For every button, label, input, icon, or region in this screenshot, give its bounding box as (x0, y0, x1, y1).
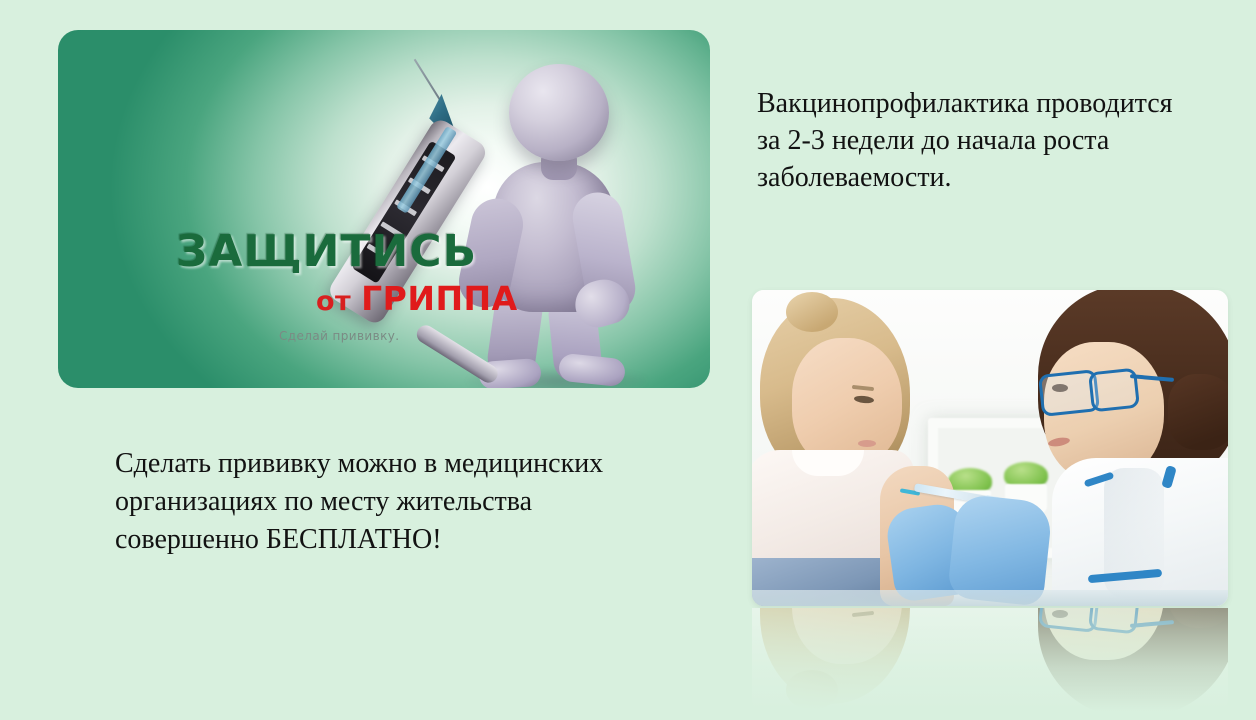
nurse-eyeglasses-lens-left (1038, 608, 1100, 633)
child-hair (760, 608, 910, 704)
poster-image: ЗАЩИТИСЬ от ГРИППА Сделай прививку. (58, 30, 710, 388)
nurse-face (1044, 608, 1164, 660)
photo-reflection-mirror (752, 608, 1228, 712)
nurse-eye (1052, 610, 1068, 618)
poster-tagline: Сделай прививку. (279, 329, 399, 343)
syringe-needle (414, 59, 441, 101)
photo-reflection (752, 608, 1228, 712)
text-block-free-vaccination: Сделать прививку можно в медицинских орг… (115, 445, 655, 559)
photo-background (752, 608, 1228, 712)
photo-container[interactable] (752, 290, 1228, 606)
nurse-braid (1168, 374, 1228, 450)
child-lips (858, 440, 876, 447)
photo-nurse-vaccinating-girl (752, 608, 1228, 712)
child-face (792, 608, 902, 664)
figure-with-syringe-illustration (383, 30, 710, 388)
child-hair-bun (786, 670, 838, 710)
poster-container[interactable]: ЗАЩИТИСЬ от ГРИППА Сделай прививку. (58, 30, 710, 388)
poster-headline: ЗАЩИТИСЬ (176, 230, 477, 274)
nurse-eyeglasses-lens-right (1088, 608, 1140, 634)
child-face (792, 338, 902, 468)
text-block-vaccination-timing: Вакцинопрофилактика проводится за 2-3 не… (757, 86, 1197, 197)
nurse-braid (1168, 608, 1228, 628)
slide-canvas: ЗАЩИТИСЬ от ГРИППА Сделай прививку. Вакц… (0, 0, 1256, 720)
nurse-hair (1038, 608, 1228, 712)
child-hair-bun (786, 292, 838, 332)
poster-subheadline: от ГРИППА (316, 282, 518, 315)
photo-reflection-fade (752, 608, 1228, 712)
poster-subheadline-prefix: от (316, 286, 361, 317)
photo-table-edge (752, 590, 1228, 606)
nurse-eyeglasses-temple (1130, 620, 1174, 628)
poster-subheadline-main: ГРИППА (361, 279, 518, 318)
child-eyebrow (852, 611, 874, 617)
photo-nurse-vaccinating-girl (752, 290, 1228, 606)
